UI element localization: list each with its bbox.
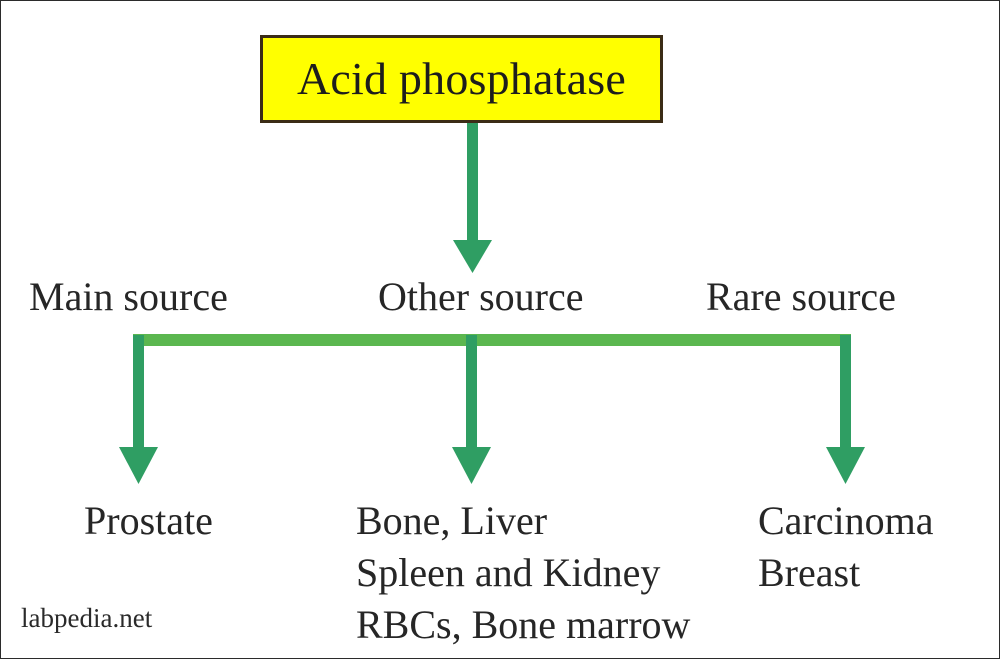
leaf-item: Prostate [84,495,213,547]
arrow-title-down [453,123,492,273]
source-label-main: Main source [29,277,228,317]
leaf-group-main: Prostate [84,495,213,547]
arrow-branch-rare [826,335,865,484]
source-label-other: Other source [378,277,583,317]
watermark: labpedia.net [21,603,152,634]
leaf-item: RBCs, Bone marrow [356,599,690,651]
diagram-canvas: Acid phosphatase Main source Other sourc… [0,0,1000,659]
leaf-item: Spleen and Kidney [356,547,690,599]
leaf-item: Carcinoma [758,495,934,547]
leaf-group-rare: Carcinoma Breast [758,495,934,599]
arrow-branch-main [119,335,158,484]
leaf-group-other: Bone, Liver Spleen and Kidney RBCs, Bone… [356,495,690,651]
source-label-rare: Rare source [706,277,896,317]
leaf-item: Breast [758,547,934,599]
distribution-bar [133,334,851,346]
leaf-item: Bone, Liver [356,495,690,547]
arrow-branch-other [452,335,491,484]
